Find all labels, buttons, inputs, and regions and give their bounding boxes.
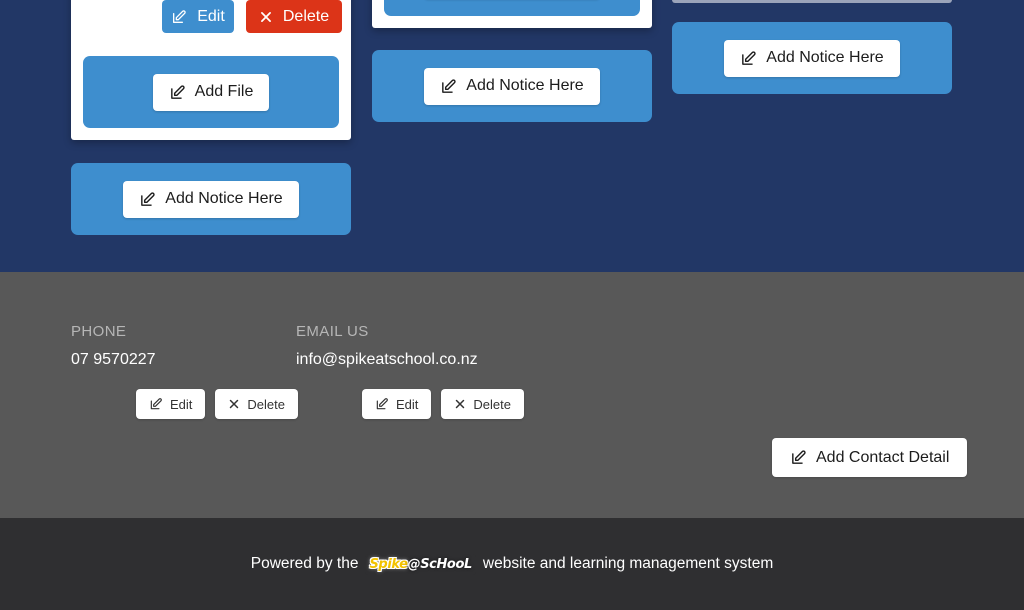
delete-button[interactable]: Delete: [246, 0, 342, 33]
file-card: Edit Delete: [71, 0, 351, 140]
powered-by-suffix: website and learning management system: [483, 555, 773, 573]
notices-section: Edit Delete: [0, 0, 1024, 272]
close-icon: [228, 398, 240, 410]
edit-icon: [440, 78, 457, 95]
edit-button-label: Edit: [197, 9, 225, 25]
add-file-button[interactable]: Add File: [153, 74, 270, 111]
add-contact-detail-label: Add Contact Detail: [816, 450, 949, 466]
contact-label: PHONE: [71, 323, 281, 340]
edit-icon: [139, 191, 156, 208]
edit-button[interactable]: Edit: [162, 0, 234, 33]
add-contact-detail-wrap: Add Contact Detail: [772, 438, 967, 477]
contact-label: EMAIL US: [296, 323, 556, 340]
logo-suffix: ScHooL: [420, 558, 472, 571]
edit-icon: [171, 9, 187, 25]
contact-value: info@spikeatschool.co.nz: [296, 351, 556, 369]
add-notice-label-3: Add Notice Here: [766, 50, 883, 66]
edit-icon: [375, 397, 389, 411]
logo-at: @: [408, 558, 421, 571]
notice-card-2: Add Notice Here: [372, 0, 652, 28]
contact-section: PHONE 07 9570227 Edit Delete: [0, 272, 1024, 518]
powered-by-text: Powered by the Spike@ScHooL website and …: [251, 554, 774, 575]
contact-item-phone: PHONE 07 9570227: [71, 323, 281, 369]
add-notice-panel-card2[interactable]: Add Notice Here: [384, 0, 640, 16]
add-file-label: Add File: [195, 84, 254, 100]
contact-actions-email: Edit Delete: [362, 389, 524, 419]
close-icon: [454, 398, 466, 410]
add-notice-label-2: Add Notice Here: [466, 78, 583, 94]
edit-button-label: Edit: [396, 398, 418, 411]
contact-value: 07 9570227: [71, 351, 281, 369]
delete-button-label: Delete: [247, 398, 285, 411]
contact-item-email: EMAIL US info@spikeatschool.co.nz: [296, 323, 556, 369]
add-contact-detail-button[interactable]: Add Contact Detail: [772, 438, 967, 477]
edit-icon: [740, 50, 757, 67]
delete-button-label: Delete: [283, 9, 329, 25]
add-file-panel[interactable]: Add File: [83, 56, 339, 128]
edit-icon: [790, 449, 807, 466]
add-notice-button-3[interactable]: Add Notice Here: [724, 40, 899, 77]
edit-icon: [169, 84, 186, 101]
close-icon: [259, 10, 273, 24]
edit-button[interactable]: Edit: [362, 389, 431, 419]
logo-brand: Spike: [369, 558, 407, 571]
site-footer: Powered by the Spike@ScHooL website and …: [0, 518, 1024, 610]
edit-button-label: Edit: [170, 398, 192, 411]
add-notice-button-2[interactable]: Add Notice Here: [424, 68, 599, 105]
notice-card-3-bottom-edge: [672, 0, 952, 3]
delete-button-label: Delete: [473, 398, 511, 411]
add-notice-panel-2[interactable]: Add Notice Here: [372, 50, 652, 122]
powered-by-prefix: Powered by the: [251, 555, 359, 573]
edit-button[interactable]: Edit: [136, 389, 205, 419]
spike-at-school-logo[interactable]: Spike@ScHooL: [365, 554, 475, 575]
add-notice-panel-3[interactable]: Add Notice Here: [672, 22, 952, 94]
delete-button[interactable]: Delete: [215, 389, 298, 419]
edit-icon: [149, 397, 163, 411]
add-notice-panel-1[interactable]: Add Notice Here: [71, 163, 351, 235]
contact-actions-phone: Edit Delete: [136, 389, 298, 419]
add-notice-button-1[interactable]: Add Notice Here: [123, 181, 298, 218]
page-root: Edit Delete: [0, 0, 1024, 610]
add-notice-label-1: Add Notice Here: [165, 191, 282, 207]
delete-button[interactable]: Delete: [441, 389, 524, 419]
